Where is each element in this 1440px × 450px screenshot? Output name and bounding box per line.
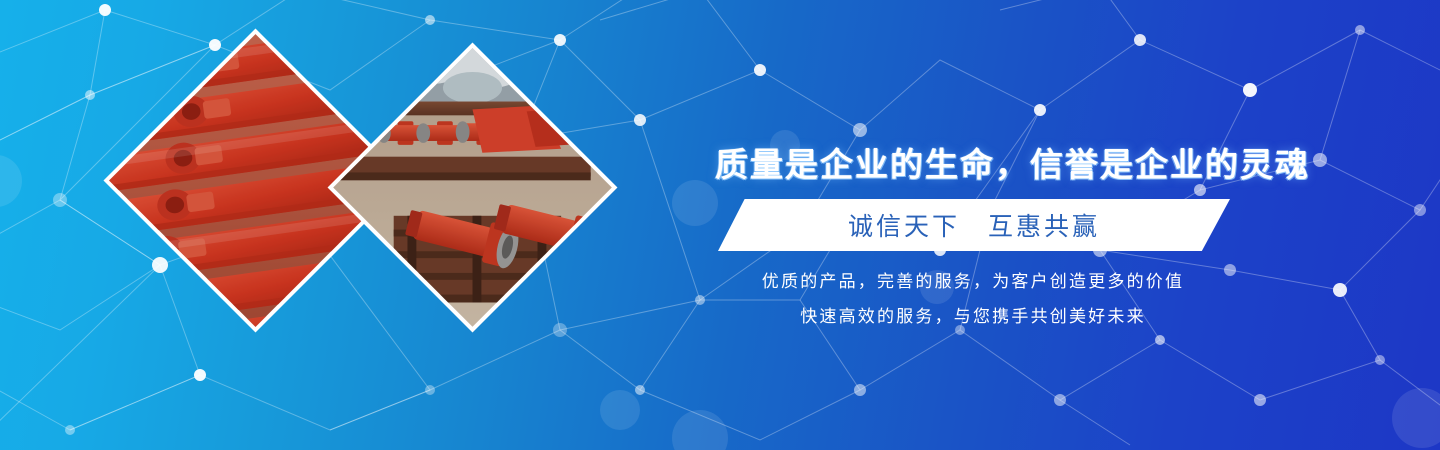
subtitle-line-2: 快速高效的服务，与您携手共创美好未来 (713, 302, 1233, 327)
promo-banner: 质量是企业的生命，信誉是企业的灵魂 诚信天下 互惠共赢 优质的产品，完善的服务，… (0, 0, 1440, 450)
slogan-ribbon: 诚信天下 互惠共赢 (718, 199, 1230, 251)
subtitle-line-1: 优质的产品，完善的服务，为客户创造更多的价值 (713, 267, 1233, 292)
headline: 质量是企业的生命，信誉是企业的灵魂 (715, 138, 1235, 186)
slogan-ribbon-text: 诚信天下 互惠共赢 (848, 207, 1100, 243)
